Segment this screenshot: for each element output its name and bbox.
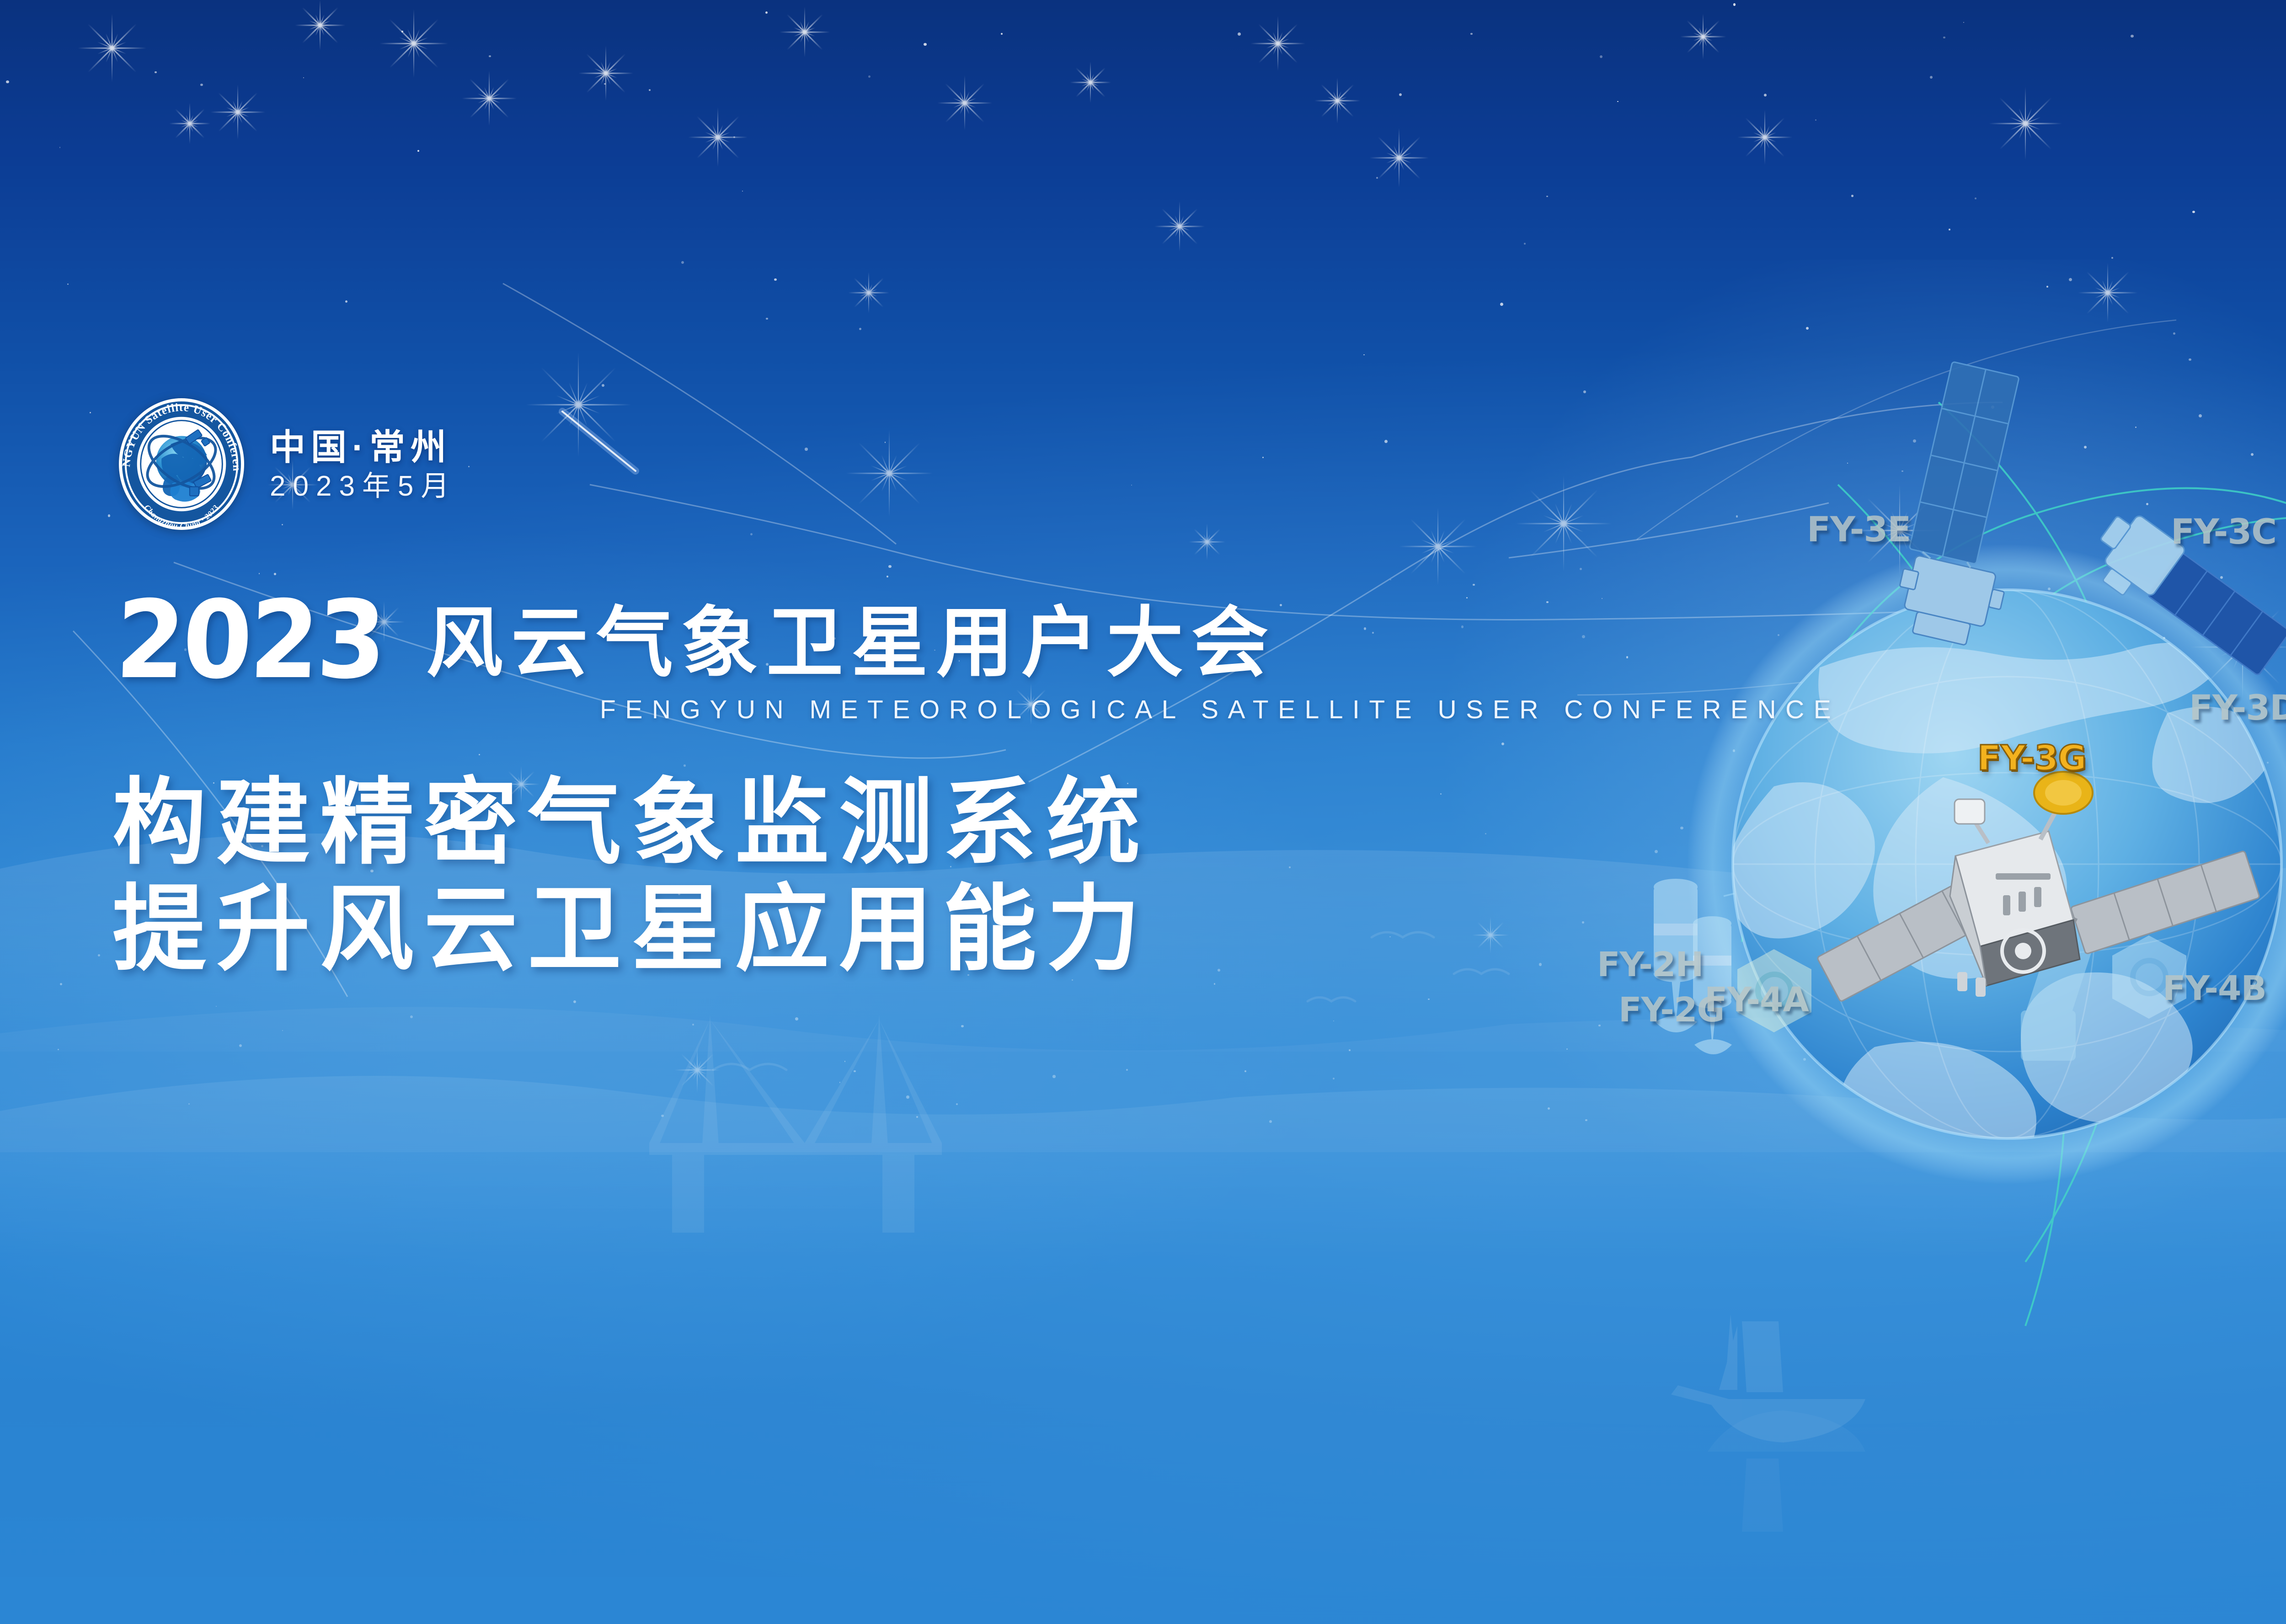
star-dot <box>2021 1045 2023 1047</box>
star-dot <box>239 1044 242 1047</box>
star-dot <box>2192 211 2195 213</box>
star-dot <box>1289 866 1291 868</box>
star-dot <box>479 754 480 755</box>
star-dot <box>1440 793 1442 795</box>
sailboat-silhouette <box>1671 1314 1865 1442</box>
star-dot <box>956 1103 958 1105</box>
star-dot <box>188 1103 190 1105</box>
satellite-fy-2g-art <box>1693 916 1732 1054</box>
star-dot <box>1218 969 1220 972</box>
star-dot <box>604 83 606 85</box>
star-dot <box>90 412 91 413</box>
star-dot <box>1470 33 1473 35</box>
star-dot <box>2139 743 2142 745</box>
satellite-fy-2h-art <box>1654 879 1698 1032</box>
star-dot <box>1736 515 1738 518</box>
star-dot <box>2084 446 2087 449</box>
star-dot <box>1473 584 1474 586</box>
star-dot <box>1539 963 1542 966</box>
star-dot <box>1585 1119 1587 1122</box>
star-dot <box>2046 286 2048 288</box>
star-dot <box>885 442 886 443</box>
star-dot <box>733 136 735 138</box>
title-chinese: 风云气象卫星用户大会 <box>426 604 1277 687</box>
star-dot <box>2251 453 2254 456</box>
star-dot <box>1976 804 1977 806</box>
star-dot <box>684 764 686 767</box>
city-label: 中国·常州 <box>270 429 456 465</box>
satellite-fy-3d-art <box>2021 905 2102 1061</box>
star-dot <box>1580 568 1582 570</box>
star-dot <box>1214 983 1215 984</box>
star-dot <box>2163 637 2165 639</box>
star-dot <box>602 384 604 387</box>
globe-glow <box>1306 260 2286 1266</box>
star-dot <box>844 1061 845 1062</box>
conference-header: FENGYUN Satellite User Conference Changz… <box>118 398 456 530</box>
star-dot <box>1997 944 1999 946</box>
star-dot <box>1131 485 1132 486</box>
satellite-label-fy-3g: FY-3G <box>1977 741 2086 775</box>
star-dot <box>1583 390 1586 393</box>
header-text-group: 中国·常州 2023年5月 <box>270 427 456 501</box>
star-dot <box>649 89 651 91</box>
star-dot <box>468 466 470 467</box>
date-label: 2023年5月 <box>270 472 456 501</box>
star-dot <box>1126 1069 1128 1071</box>
star-dot <box>854 1070 855 1072</box>
star-dot <box>2267 762 2269 764</box>
emblem-logo: FENGYUN Satellite User Conference Changz… <box>118 398 245 530</box>
star-dot <box>1803 1058 1806 1061</box>
star-dot <box>274 573 276 575</box>
star-dot <box>345 300 347 303</box>
satellite-label-fy-4a: FY-4A <box>1704 983 1809 1017</box>
slogan-line-1: 构建精密气象监测系统 <box>112 773 1150 873</box>
star-dot <box>1617 101 1618 102</box>
star-dot <box>1733 749 1735 752</box>
star-dot <box>1847 463 1848 464</box>
star-dot <box>2019 1001 2021 1003</box>
star-dot <box>1399 93 1402 96</box>
star-dot <box>1566 1048 1568 1050</box>
star-dot <box>417 150 420 152</box>
star-dot <box>60 983 63 986</box>
star-dot <box>1680 827 1683 829</box>
star-dot <box>906 1095 909 1098</box>
star-dot <box>1389 936 1390 937</box>
star-dot <box>2125 992 2126 993</box>
star-dot <box>1244 1070 1246 1072</box>
star-dot <box>1428 999 1429 1000</box>
star-dot <box>961 1025 964 1028</box>
bridge-silhouette <box>649 1015 942 1233</box>
satellite-fy-3g-art <box>1817 772 2260 1002</box>
satellite-label-fy-4b: FY-4B <box>2163 972 2266 1005</box>
satellite-label-fy-3e: FY-3E <box>1807 512 1911 547</box>
star-dot <box>2189 358 2191 361</box>
star-dot <box>1238 32 1241 36</box>
star-dot <box>839 1082 841 1083</box>
star-dot <box>1655 850 1657 853</box>
star-dot <box>795 1017 798 1020</box>
star-dot <box>200 84 203 86</box>
satellite-label-fy-2h: FY-2H <box>1597 948 1703 982</box>
star-dot <box>58 1049 59 1050</box>
orbit-arcs <box>1742 402 2286 1326</box>
star-dot <box>1390 579 1391 580</box>
star-dot <box>2131 35 2134 38</box>
star-dot <box>2199 414 2202 417</box>
star-dot <box>1600 55 1602 58</box>
satellite-label-fy-3d: FY-3D <box>2189 690 2286 725</box>
star-dot <box>155 71 156 73</box>
satellite-label-fy-3c: FY-3C <box>2171 514 2276 549</box>
star-dot <box>2048 588 2051 590</box>
star-dot <box>765 11 768 14</box>
star-dot <box>774 278 776 281</box>
star-dot <box>887 576 888 577</box>
satellite-label-fy-2g: FY-2G <box>1618 993 1724 1027</box>
star-dot <box>916 1116 918 1118</box>
star-dot <box>692 1024 694 1026</box>
title-year: 2023 <box>114 594 385 687</box>
star-dot <box>216 1006 217 1007</box>
star-dot <box>1913 439 1916 443</box>
star-dot <box>1806 327 1809 330</box>
star-dot <box>282 1030 283 1031</box>
star-dot <box>1333 1078 1335 1079</box>
star-dot <box>1733 3 1736 6</box>
star-dot <box>303 77 304 78</box>
star-dot <box>1333 1020 1334 1021</box>
star-dot <box>1582 921 1584 924</box>
star-dot <box>1991 406 1994 409</box>
star-dot <box>67 283 69 285</box>
star-dot <box>1930 76 1933 79</box>
star-dot <box>98 954 100 956</box>
star-dot <box>401 31 403 32</box>
star-dot <box>1598 1025 1600 1026</box>
star-dot <box>868 75 871 78</box>
gold-antenna-dish <box>2034 772 2093 839</box>
star-dot <box>924 43 927 46</box>
star-dot <box>573 1000 576 1003</box>
star-dot <box>2040 964 2041 965</box>
star-dot <box>859 328 861 330</box>
sailboat-reflection <box>1708 1410 1865 1532</box>
star-dot <box>1501 743 1504 745</box>
star-dot <box>1376 177 1378 179</box>
star-dot <box>2220 576 2223 579</box>
star-dot <box>259 573 260 574</box>
star-dot <box>2173 332 2175 335</box>
star-dot <box>1548 1107 1550 1110</box>
star-dot <box>2069 278 2072 281</box>
star-dot <box>2146 503 2148 505</box>
star-dot <box>59 147 61 148</box>
star-dot <box>1975 198 1976 199</box>
conference-poster: FENGYUN Satellite User Conference Changz… <box>0 0 2286 1624</box>
satellite-fy-3c-art <box>2081 505 2286 688</box>
star-dot <box>1546 196 1548 197</box>
slogan-line-2: 提升风云卫星应用能力 <box>112 879 1150 979</box>
main-title-block: 2023 风云气象卫星用户大会 FENGYUN METEOROLOGICAL S… <box>114 594 1840 723</box>
star-dot <box>2111 257 2113 259</box>
star-dot <box>1485 833 1486 834</box>
star-dot <box>1384 440 1388 443</box>
star-dot <box>1269 1120 1272 1123</box>
star-dot <box>1052 1075 1055 1078</box>
star-dot <box>661 1115 664 1117</box>
satellite-fy-4b-art <box>2112 935 2186 1019</box>
star-dot <box>410 1015 413 1018</box>
star-dot <box>805 448 807 450</box>
star-dot <box>766 318 768 320</box>
slogan-block: 构建精密气象监测系统 提升风云卫星应用能力 <box>112 773 1150 980</box>
star-dot <box>1764 94 1767 96</box>
star-dot <box>1500 303 1503 306</box>
star-dot <box>1815 119 1816 121</box>
comet-streak <box>562 411 636 471</box>
star-dot <box>1524 243 1526 245</box>
star-dot <box>2153 597 2155 598</box>
title-english: FENGYUN METEOROLOGICAL SATELLITE USER CO… <box>600 697 1840 723</box>
star-dot <box>1851 195 1853 197</box>
star-dot <box>1001 33 1003 35</box>
star-dot <box>681 261 684 264</box>
star-dot <box>742 191 743 192</box>
satellite-fy-4a-art <box>1737 949 1811 1032</box>
star-dot <box>1262 457 1264 458</box>
star-dot <box>750 533 753 535</box>
earth-landmasses <box>1726 643 2271 1203</box>
star-dot <box>1349 1049 1351 1051</box>
star-dot <box>1943 37 1945 39</box>
star-dot <box>1963 22 1965 23</box>
star-dot <box>489 55 491 57</box>
star-dot <box>1784 897 1788 901</box>
star-dot <box>2135 427 2136 428</box>
star-dot <box>1901 470 1903 472</box>
star-dot <box>888 565 891 568</box>
star-dot <box>1949 229 1950 230</box>
star-dot <box>6 80 9 83</box>
star-dot <box>108 514 110 517</box>
satellite-fy-3e-art <box>1890 361 2052 651</box>
star-dot <box>1363 354 1365 356</box>
